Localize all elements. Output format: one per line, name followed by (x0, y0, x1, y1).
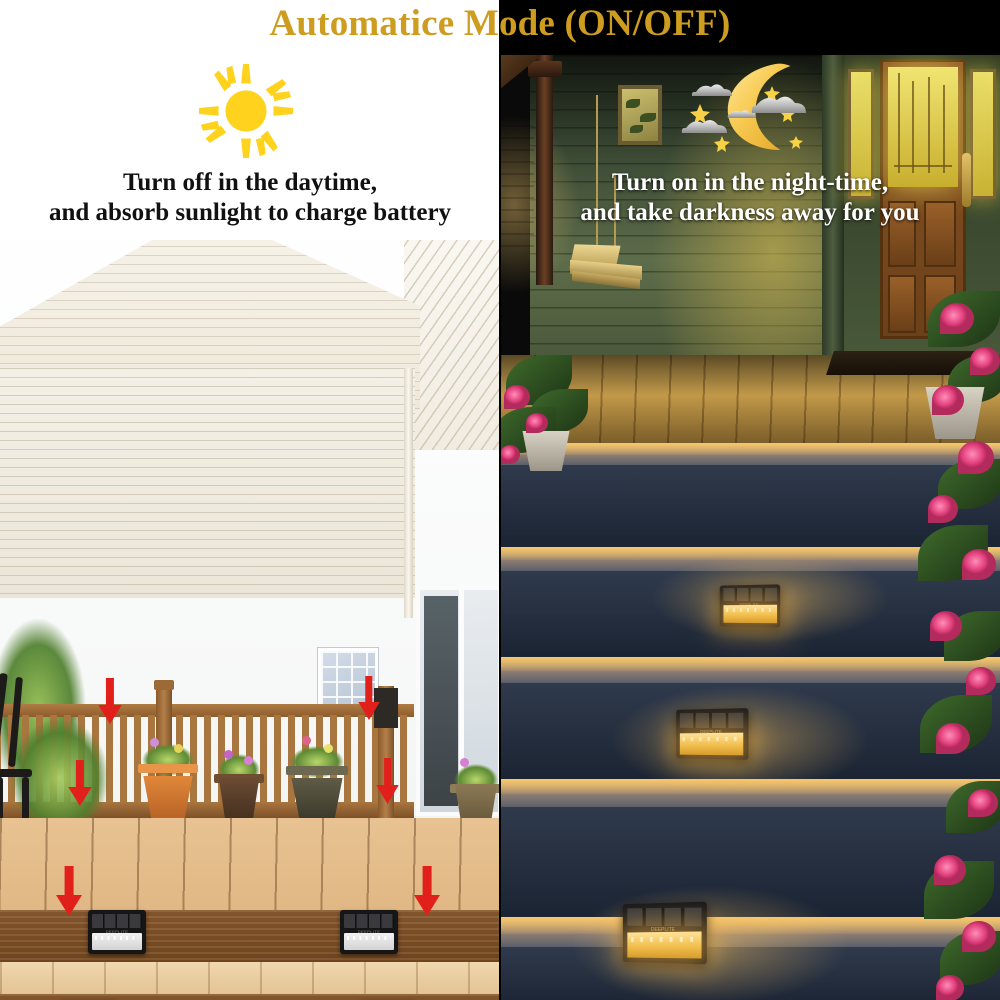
step-light-pool (570, 885, 850, 1000)
annotation-arrow-down (376, 758, 399, 804)
annotation-arrow-down (56, 866, 82, 916)
led-diffuser-glowing (627, 931, 701, 958)
pink-flower (932, 385, 964, 415)
page-title: Automatice Mode (ON/OFF) (0, 2, 1000, 45)
pink-flower (936, 975, 964, 1000)
patio-chair (0, 673, 44, 838)
night-caption: Turn on in the night-time, and take dark… (500, 168, 1000, 228)
pink-flower (970, 347, 1000, 375)
porch-swing (570, 245, 642, 291)
solar-panel (92, 914, 142, 928)
bloom (150, 738, 159, 747)
bloom (224, 750, 233, 759)
railing-post-cap (154, 680, 174, 690)
stair-tread (500, 443, 1000, 465)
solar-panel (627, 907, 701, 926)
sun-icon (196, 62, 296, 160)
night-caption-line2: and take darkness away for you (500, 198, 1000, 228)
solar-panel (680, 713, 744, 729)
bloom (244, 756, 253, 765)
annotation-arrow-down (68, 760, 92, 806)
solar-step-light-unlit: DEEPLITE (340, 910, 398, 954)
annotation-arrow-down (414, 866, 440, 916)
porch-column-cap (528, 61, 562, 77)
day-caption-line1: Turn off in the daytime, (0, 168, 500, 198)
night-caption-line1: Turn on in the night-time, (500, 168, 1000, 198)
pink-flower (958, 441, 994, 474)
pink-flower (962, 549, 996, 580)
night-panel: DEEPLITE DEEPLITE DEEPLITE (500, 0, 1000, 1000)
bloom (460, 758, 469, 767)
house-wall (0, 368, 415, 598)
day-caption: Turn off in the daytime, and absorb sunl… (0, 168, 500, 228)
stair-riser (500, 465, 1000, 547)
bloom (174, 744, 183, 753)
pink-flower (966, 667, 996, 695)
led-diffuser (344, 933, 394, 950)
annotation-arrow-down (358, 676, 380, 720)
step-tread-top (0, 962, 500, 994)
pink-flower (930, 611, 962, 641)
planter-rim (138, 764, 198, 773)
slider-dark-pane (424, 596, 458, 806)
pink-flower (936, 723, 970, 754)
solar-step-light-lit: DEEPLITE (718, 585, 780, 627)
solar-step-light-unlit: DEEPLITE (88, 910, 146, 954)
led-diffuser-glowing (723, 605, 776, 624)
solar-panel (723, 588, 776, 601)
bloom (324, 744, 333, 753)
pink-flower (504, 385, 530, 409)
pink-flower (940, 303, 974, 334)
solar-step-light-lit: DEEPLITE (620, 903, 706, 963)
day-caption-line2: and absorb sunlight to charge battery (0, 198, 500, 228)
stair-tread (500, 657, 1000, 683)
solar-step-light-lit: DEEPLITE (674, 709, 748, 759)
planter-rim (286, 766, 348, 775)
door-panel (888, 275, 916, 333)
corner-post (404, 368, 413, 618)
pink-flower (968, 789, 998, 817)
pink-flower (934, 855, 966, 885)
pink-flower (526, 413, 548, 433)
framed-wall-art (618, 85, 662, 145)
step-riser-top (0, 910, 500, 962)
solar-panel (344, 914, 394, 928)
pink-flower (928, 495, 958, 523)
wall-siding-lines (0, 368, 415, 598)
bloom (302, 736, 311, 745)
day-panel: DEEPLITE DEEPLITE DEEPLITE DEEPLITE DEEP (0, 0, 500, 1000)
pink-flower (500, 445, 520, 464)
led-diffuser (92, 933, 142, 950)
led-diffuser-glowing (680, 733, 744, 756)
panel-divider (499, 0, 501, 1000)
moon-icon (676, 58, 806, 154)
pink-flower (962, 921, 996, 952)
planter-bowl (140, 776, 196, 824)
annotation-arrow-down (98, 678, 122, 724)
product-feature-image: DEEPLITE DEEPLITE DEEPLITE DEEPLITE DEEP (0, 0, 1000, 1000)
